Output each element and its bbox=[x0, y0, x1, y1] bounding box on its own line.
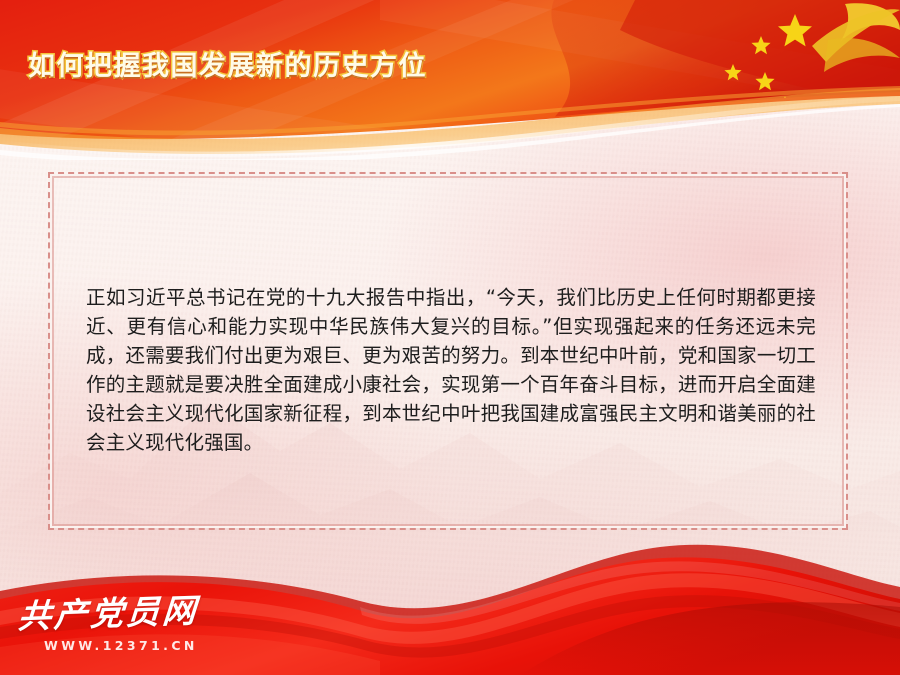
header-banner: 如何把握我国发展新的历史方位 bbox=[0, 0, 900, 160]
body-paragraph: 正如习近平总书记在党的十九大报告中指出，“今天，我们比历史上任何时期都更接近、更… bbox=[86, 283, 816, 457]
footer-banner: 共产党员网 WWW.12371.CN bbox=[0, 515, 900, 675]
site-logo-url: WWW.12371.CN bbox=[18, 638, 218, 653]
slide-canvas: 如何把握我国发展新的历史方位 正如习近平总书记在党的十九大报告中指出，“今天，我… bbox=[0, 0, 900, 675]
site-logo-text: 共产党员网 bbox=[17, 592, 220, 635]
page-title: 如何把握我国发展新的历史方位 bbox=[28, 50, 427, 84]
site-logo[interactable]: 共产党员网 WWW.12371.CN bbox=[18, 599, 218, 653]
